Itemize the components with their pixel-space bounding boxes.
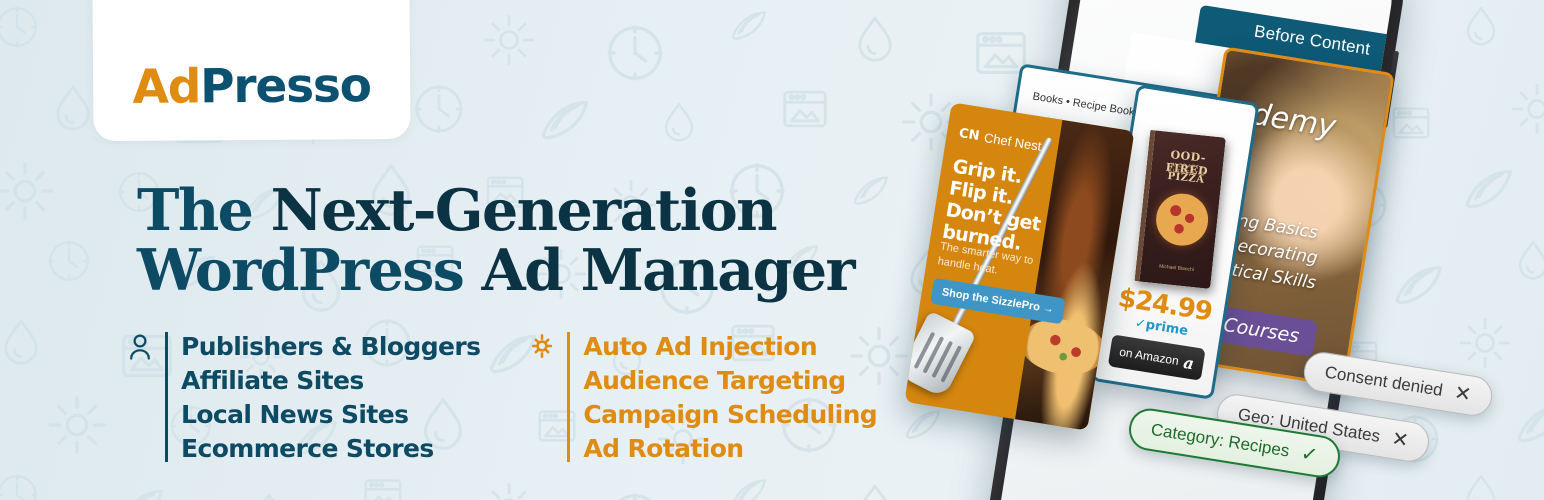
decorative-drop-icon (238, 490, 300, 500)
decorative-gear-icon (1510, 82, 1544, 136)
audience-divider (165, 332, 168, 462)
headline-line-2: WordPress Ad Manager (137, 241, 917, 301)
headline-next-generation: Next-Generation (271, 177, 776, 244)
check-icon: ✓ (1299, 444, 1319, 466)
list-item: Audience Targeting (583, 364, 877, 398)
capabilities-list: Auto Ad Injection Audience Targeting Cam… (583, 330, 877, 466)
decorative-crois-icon (1388, 256, 1450, 318)
decorative-clock-icon (604, 22, 666, 84)
amazon-button-label: on Amazon (1118, 345, 1179, 368)
logo-card: AdPresso (92, 0, 410, 141)
capabilities-divider (567, 332, 570, 462)
decorative-clock-icon (0, 472, 40, 500)
decorative-crois-icon (534, 91, 596, 153)
buy-on-amazon-button[interactable]: on Amazon a (1108, 334, 1206, 380)
list-item: Local News Sites (181, 398, 480, 432)
headline-the: The (137, 177, 252, 244)
decorative-imgwin-icon (778, 82, 832, 136)
decorative-gear-icon (1458, 316, 1512, 370)
person-icon (128, 333, 152, 366)
decorative-gear-icon (482, 13, 536, 67)
decorative-clock-icon (412, 82, 466, 136)
decorative-gear-icon (46, 394, 108, 456)
list-item: Ad Rotation (583, 432, 877, 466)
gear-icon (530, 333, 554, 364)
list-item: Publishers & Bloggers (181, 330, 480, 364)
list-item: Campaign Scheduling (583, 398, 877, 432)
logo-ad-text: Ad (132, 59, 200, 114)
decorative-drop-icon (1458, 472, 1504, 500)
pizza-image (1016, 313, 1109, 380)
breadcrumb: Books • Recipe Books (1032, 91, 1141, 120)
headline-line-1: The Next-Generation (137, 181, 917, 241)
decorative-crois-icon (900, 403, 946, 449)
list-item: Affiliate Sites (181, 364, 480, 398)
decorative-drop-icon (848, 481, 902, 500)
list-item: Auto Ad Injection (583, 330, 877, 364)
list-item: Ecommerce Stores (181, 432, 480, 466)
decorative-drop-icon (1510, 238, 1544, 284)
feature-columns: Publishers & Bloggers Affiliate Sites Lo… (128, 330, 877, 466)
logo-presso-text: Presso (200, 58, 371, 114)
page-title: The Next-Generation WordPress Ad Manager (137, 181, 917, 301)
brand-logo: AdPresso (132, 62, 370, 111)
decorative-crois-icon (1510, 394, 1544, 456)
book-cover: OOD-FIRED W CRAFT • AUTHENTIC PIZZA Mich… (1134, 130, 1225, 289)
decorative-drop-icon (46, 82, 100, 136)
decorative-crois-icon (116, 481, 170, 500)
book-author: Michael Bianchi (1141, 262, 1212, 275)
chefnest-logo-icon: CN (958, 126, 981, 144)
decorative-crois-icon (726, 472, 772, 500)
close-icon[interactable]: ✕ (1453, 383, 1473, 405)
decorative-crois-icon (1458, 160, 1520, 222)
book-pizza-image (1153, 191, 1210, 248)
decorative-clock-icon (0, 4, 40, 50)
decorative-drop-icon (0, 316, 48, 370)
amazon-logo-icon: a (1182, 352, 1195, 372)
audience-column: Publishers & Bloggers Affiliate Sites Lo… (128, 330, 480, 466)
decorative-gear-icon (482, 481, 536, 500)
capabilities-column: Auto Ad Injection Audience Targeting Cam… (530, 330, 877, 466)
headline-wordpress: WordPress (137, 237, 463, 304)
close-icon[interactable]: ✕ (1390, 429, 1410, 451)
headline-ad-manager: Ad Manager (481, 237, 853, 304)
decorative-crois-icon (1336, 490, 1398, 500)
decorative-imgwin-icon (1388, 100, 1434, 146)
consent-label: Consent denied (1323, 363, 1444, 401)
decorative-crois-icon (726, 4, 772, 50)
decorative-drop-icon (1458, 4, 1504, 50)
audience-list: Publishers & Bloggers Affiliate Sites Lo… (181, 330, 480, 466)
decorative-clock-icon (46, 238, 92, 284)
decorative-gear-icon (0, 160, 56, 222)
decorative-drop-icon (848, 13, 902, 67)
decorative-clock-icon (604, 490, 666, 500)
promo-banner: AdPresso The Next-Generation WordPress A… (0, 0, 1544, 500)
decorative-imgwin-icon (360, 472, 406, 500)
decorative-drop-icon (656, 100, 702, 146)
